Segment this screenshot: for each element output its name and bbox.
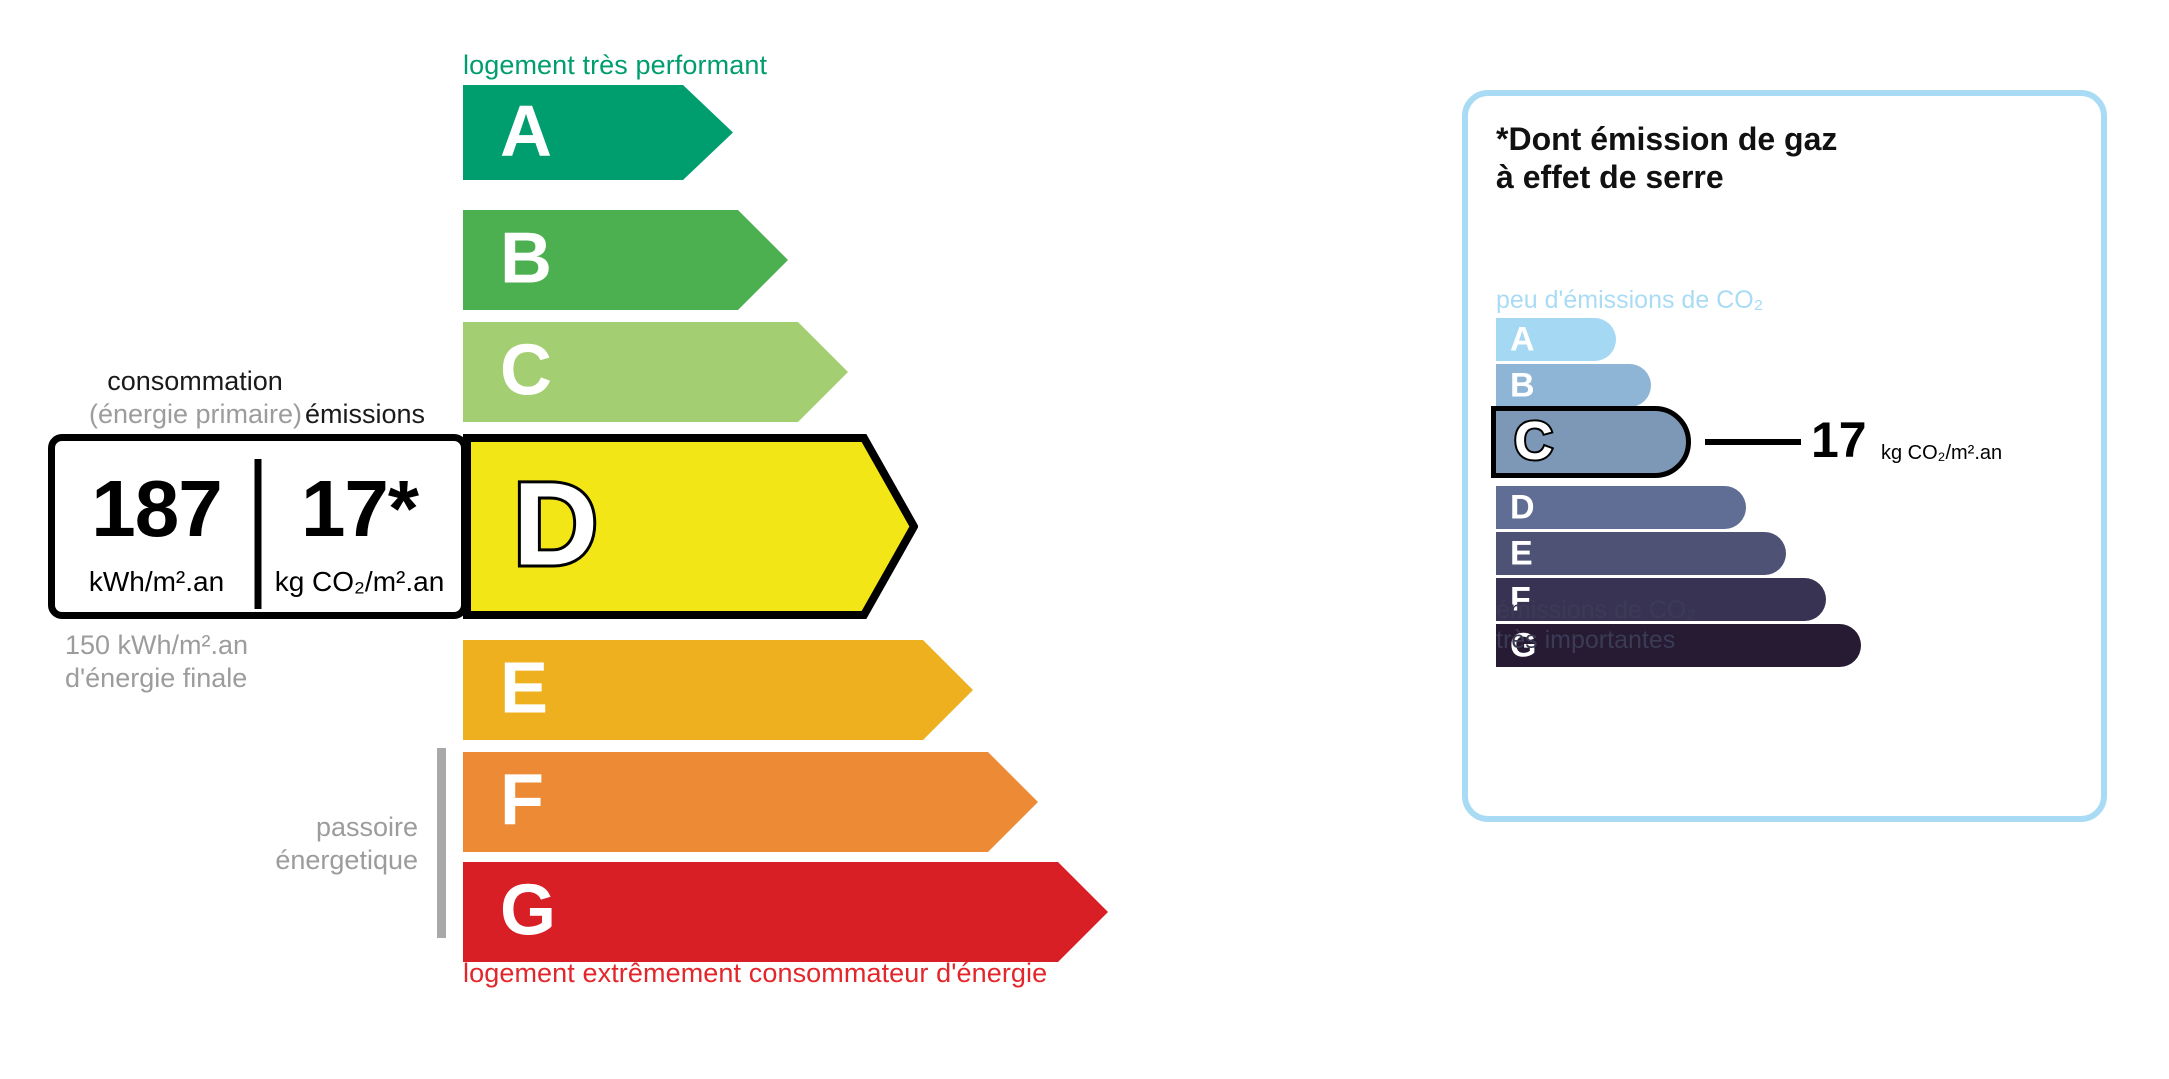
ges-bar-letter-e: E [1510, 536, 1533, 570]
consumption-unit: kWh/m².an [55, 566, 258, 598]
energy-bar-letter-a: A [500, 95, 552, 167]
label-consommation: consommation [70, 366, 320, 397]
energy-bar-f: F [463, 752, 1038, 852]
ges-bar-letter-d: D [1510, 490, 1535, 524]
energy-bar-c: C [463, 322, 848, 422]
energy-performance-ladder: logement très performant ABCDEFG logemen… [0, 0, 1400, 1079]
ges-bar-c: C [1491, 406, 1691, 478]
ges-bar-a: A [1496, 318, 1616, 361]
energy-caption-bottom: logement extrêmement consommateur d'éner… [463, 958, 1047, 989]
energy-bar-a: A [463, 85, 733, 180]
energy-bar-letter-f: F [500, 765, 544, 837]
energy-bar-letter-g: G [500, 875, 556, 947]
emission-value: 17* [258, 469, 461, 549]
ges-title-line1: *Dont émission de gaz [1496, 121, 1837, 157]
ges-bar-b: B [1496, 364, 1651, 407]
dpe-infographic: logement très performant ABCDEFG logemen… [0, 0, 2169, 1079]
energy-bar-letter-d: D [513, 465, 598, 583]
label-energie-primaire: (énergie primaire) [48, 399, 343, 430]
ges-callout-unit: kg CO₂/m².an [1881, 443, 2002, 463]
passoire-line2: énergetique [200, 845, 418, 876]
consumption-cell: 187 kWh/m².an [55, 441, 258, 612]
ges-bar-letter-a: A [1510, 322, 1535, 356]
ges-caption-bottom-line2: très importantes [1496, 626, 1675, 654]
ges-callout-line [1705, 439, 1801, 445]
passoire-line1: passoire [200, 812, 418, 843]
ges-caption-bottom-line1: émissions de CO₂ [1496, 596, 1696, 624]
ges-panel-title: *Dont émission de gaz à effet de serre [1496, 121, 1837, 197]
value-box: 187 kWh/m².an 17* kg CO₂/m².an [48, 434, 468, 619]
label-emissions: émissions [305, 399, 425, 430]
energy-bar-e: E [463, 640, 973, 740]
energy-bar-b: B [463, 210, 788, 310]
energy-bar-letter-c: C [500, 335, 552, 407]
energy-bar-d: D [463, 434, 918, 619]
energy-bar-g: G [463, 862, 1108, 962]
ges-bar-letter-b: B [1510, 368, 1535, 402]
energy-bar-letter-b: B [500, 223, 552, 295]
ges-bar-e: E [1496, 532, 1786, 575]
emission-cell: 17* kg CO₂/m².an [258, 441, 461, 612]
passoire-marker-bar [437, 748, 446, 938]
ges-callout-value: 17 [1811, 415, 1867, 465]
ges-panel: *Dont émission de gaz à effet de serre p… [1462, 90, 2107, 822]
consumption-value: 187 [55, 469, 258, 549]
final-energy-line2: d'énergie finale [65, 663, 247, 694]
energy-bar-letter-e: E [500, 653, 548, 725]
final-energy-line1: 150 kWh/m².an [65, 630, 248, 661]
ges-bar-letter-c: C [1514, 414, 1553, 468]
ges-title-line2: à effet de serre [1496, 159, 1724, 195]
ges-caption-bottom: émissions de CO₂ très importantes [1496, 596, 1696, 655]
ges-caption-top: peu d'émissions de CO₂ [1496, 286, 1763, 315]
emission-unit: kg CO₂/m².an [258, 566, 461, 598]
ges-bar-d: D [1496, 486, 1746, 529]
